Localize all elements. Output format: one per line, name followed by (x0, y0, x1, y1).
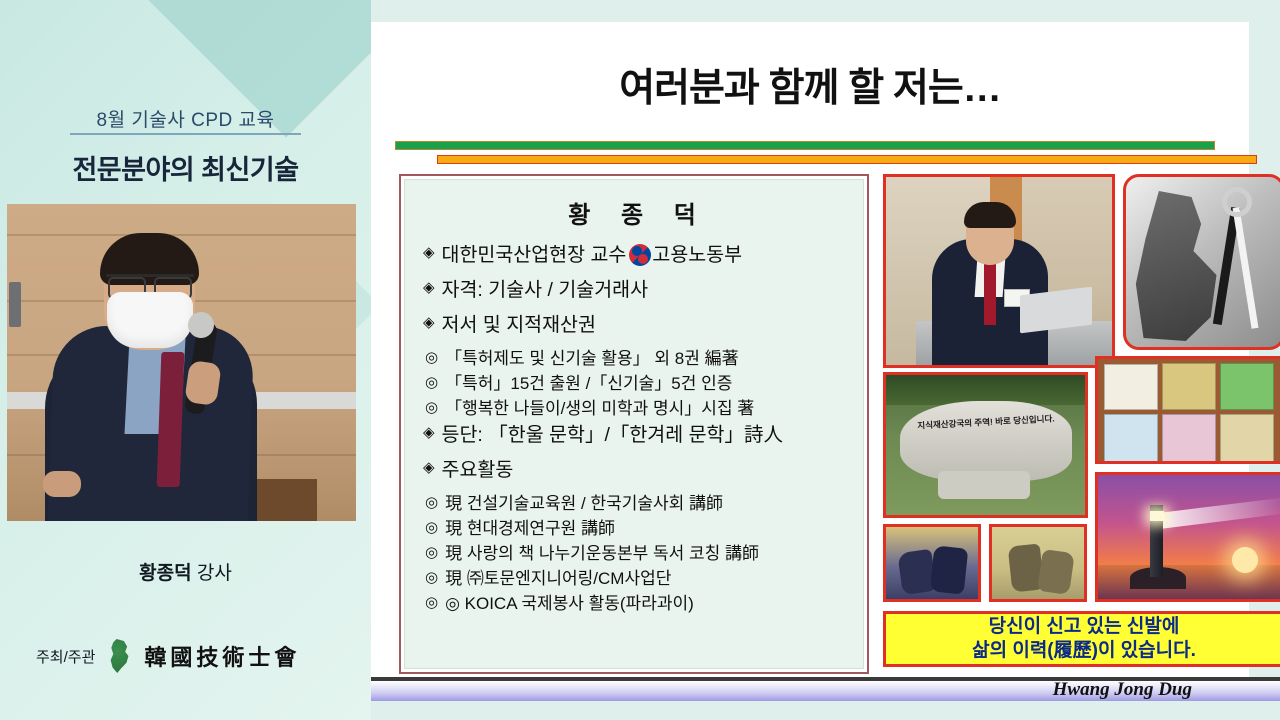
profile-line: ◈대한민국산업현장 교수고용노동부 (423, 244, 851, 267)
circle-bullet-icon: ◎ (425, 399, 438, 416)
circle-bullet-icon: ◎ (425, 569, 438, 586)
profile-box: 황 종 덕 ◈대한민국산업현장 교수고용노동부◈자격: 기술사 / 기술거래사◈… (399, 174, 869, 674)
profile-line: ◈주요활동 (423, 459, 851, 482)
profile-line: ◈자격: 기술사 / 기술거래사 (423, 279, 851, 302)
korea-map-logo-icon (103, 639, 136, 673)
circle-bullet-icon: ◎ (425, 494, 438, 511)
organizer-block: 주최/주관 韓國技術士會 (36, 639, 300, 673)
lighthouse-photo (1095, 472, 1280, 602)
profile-line-suffix: 고용노동부 (652, 244, 742, 267)
profile-line-text: 저서 및 지적재산권 (442, 314, 596, 337)
diamond-bullet-icon: ◈ (423, 279, 435, 296)
profile-line-text: ◎ KOICA 국제봉사 활동(파라과이) (445, 594, 694, 614)
profile-line-text: 대한민국산업현장 교수 (442, 244, 627, 267)
slide-title: 여러분과 함께 할 저는… (371, 57, 1249, 113)
profile-line: ◈등단: 「한울 문학」/「한겨레 문학」詩人 (423, 424, 851, 447)
presenter-photo (7, 204, 356, 521)
door-handle-icon (9, 282, 21, 327)
profile-line: ◎現 현대경제연구원 講師 (425, 519, 851, 539)
presenter-tie (157, 352, 185, 487)
circle-bullet-icon: ◎ (425, 544, 438, 561)
profile-line-text: 現 현대경제연구원 講師 (445, 519, 615, 539)
stone-monument-photo: 지식재산강국의 주역! 바로 당신입니다. (883, 372, 1088, 518)
decorative-bar-orange (437, 155, 1257, 164)
korea-taegeuk-icon (629, 244, 651, 266)
face-mask-icon (107, 292, 193, 348)
organizer-name: 韓國技術士會 (144, 640, 300, 672)
presenter-hand-left (43, 471, 81, 497)
profile-line: ◎◎ KOICA 국제봉사 활동(파라과이) (425, 594, 851, 614)
circle-bullet-icon: ◎ (425, 374, 438, 391)
profile-line-text: 「특허」15건 출원 /「신기술」5건 인증 (445, 374, 732, 394)
course-eyebrow-text: 8월 기술사 CPD 교육 (0, 105, 371, 132)
profile-line: ◎現 건설기술교육원 / 한국기술사회 講師 (425, 494, 851, 514)
profile-line-text: 주요활동 (442, 459, 514, 482)
circle-bullet-icon: ◎ (425, 594, 438, 611)
caption-box: 당신이 신고 있는 신발에 삶의 이력(履歷)이 있습니다. (883, 611, 1280, 667)
diamond-bullet-icon: ◈ (423, 424, 435, 441)
worn-shoes-photo (989, 524, 1087, 602)
profile-line-text: 자격: 기술사 / 기술거래사 (442, 279, 649, 302)
profile-line: ◎「특허」15건 출원 /「신기술」5건 인증 (425, 374, 851, 394)
profile-line-text: 現 건설기술교육원 / 한국기술사회 講師 (445, 494, 723, 514)
profile-name: 황 종 덕 (425, 195, 851, 230)
left-info-panel: 8월 기술사 CPD 교육 전문분야의 최신기술 황종덕 (0, 0, 371, 720)
profile-line: ◈저서 및 지적재산권 (423, 314, 851, 337)
presentation-slide: 여러분과 함께 할 저는… 황 종 덕 ◈대한민국산업현장 교수고용노동부◈자격… (371, 22, 1249, 677)
presenter-name-caption: 황종덕 강사 (0, 558, 371, 585)
circle-bullet-icon: ◎ (425, 349, 438, 366)
podium-photo (883, 174, 1115, 368)
decorative-bar-green (395, 141, 1215, 150)
presenter-name-text: 황종덕 (139, 563, 191, 584)
circle-bullet-icon: ◎ (425, 519, 438, 536)
organizer-label: 주최/주관 (36, 646, 95, 667)
thinker-compass-photo (1123, 174, 1280, 350)
profile-line-list: ◈대한민국산업현장 교수고용노동부◈자격: 기술사 / 기술거래사◈저서 및 지… (417, 244, 851, 614)
profile-line-text: 現 ㈜토문엔지니어링/CM사업단 (445, 569, 671, 589)
profile-line-text: 現 사랑의 책 나누기운동본부 독서 코칭 講師 (445, 544, 759, 564)
profile-line-text: 「특허제도 및 신기술 활용」 외 8권 編著 (445, 349, 738, 369)
profile-line: ◎現 ㈜토문엔지니어링/CM사업단 (425, 569, 851, 589)
diamond-bullet-icon: ◈ (423, 459, 435, 476)
slide-stage: 8월 기술사 CPD 교육 전문분야의 최신기술 황종덕 (0, 0, 1280, 720)
course-title: 전문분야의 최신기술 (0, 148, 371, 187)
glasses-icon (106, 274, 194, 292)
diamond-bullet-icon: ◈ (423, 244, 435, 261)
caption-line-2: 삶의 이력(履歷)이 있습니다. (972, 639, 1196, 663)
signature-text: Hwang Jong Dug (1053, 679, 1192, 701)
profile-line: ◎「특허제도 및 신기술 활용」 외 8권 編著 (425, 349, 851, 369)
profile-line: ◎現 사랑의 책 나누기운동본부 독서 코칭 講師 (425, 544, 851, 564)
eyebrow-underline (70, 133, 301, 135)
profile-line-text: 등단: 「한울 문학」/「한겨레 문학」詩人 (442, 424, 783, 447)
diamond-bullet-icon: ◈ (423, 314, 435, 331)
caption-line-1: 당신이 신고 있는 신발에 (989, 615, 1180, 639)
books-photo (1095, 356, 1280, 464)
presenter-role-text: 강사 (197, 563, 232, 584)
profile-line: ◎「행복한 나들이/생의 미학과 명시」시집 著 (425, 399, 851, 419)
profile-line-text: 「행복한 나들이/생의 미학과 명시」시집 著 (445, 399, 754, 419)
blue-shoes-photo (883, 524, 981, 602)
